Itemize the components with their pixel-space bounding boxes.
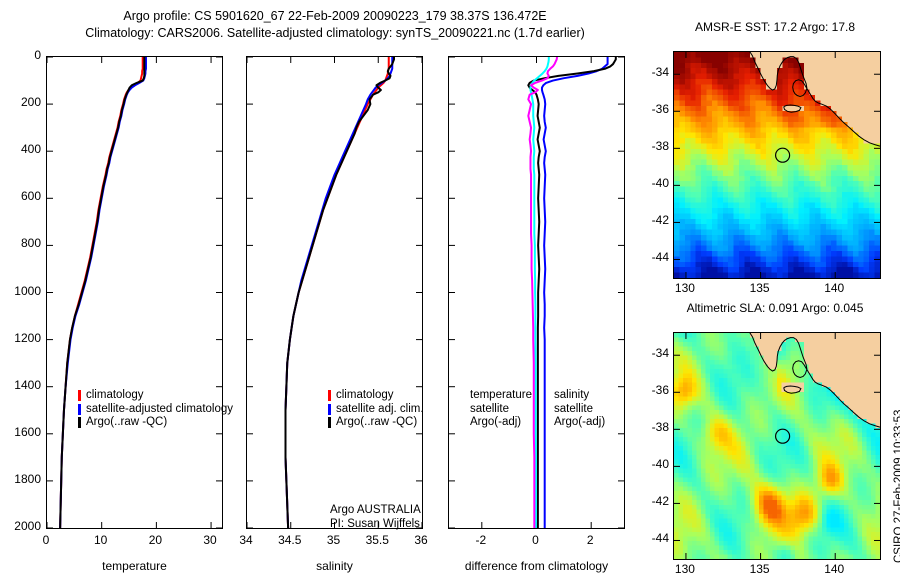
temperature-panel [46,56,223,529]
legend-swatch [78,417,81,428]
difference-panel [448,56,625,529]
depth-tick-label: 600 [0,189,41,203]
sst-map-lat-tick: -38 [631,139,669,153]
sla-map-lat-tick: -40 [631,457,669,471]
legend-item: climatology [328,389,424,403]
depth-tick-label: 1600 [0,425,41,439]
legend-label: climatology [336,389,394,403]
legend-group-header: temperature [470,389,532,403]
csiro-credit: CSIRO 27-Feb-2009 10:33:53 [893,410,900,563]
legend-label: Argo(..raw -QC) [86,416,167,430]
sst-map-lat-tick: -34 [631,65,669,79]
salinity-legend: climatologysatellite adj. clim.Argo(..ra… [328,389,424,430]
legend-swatch [328,417,331,428]
sla-map-lat-tick: -36 [631,383,669,397]
program-annotation: Argo AUSTRALIA [330,503,421,517]
sla-map-lon-tick: 140 [804,562,864,576]
sla-map-lat-tick: -42 [631,494,669,508]
sst-map-lon-tick: 130 [655,281,715,295]
salinity-plot-area [247,57,422,528]
depth-tick-label: 400 [0,142,41,156]
legend-swatch [328,390,331,401]
difference-x-axis-label: difference from climatology [440,559,633,573]
depth-tick-label: 800 [0,236,41,250]
sla-map-lon-tick: 130 [655,562,715,576]
sla-map-lon-tick: 135 [730,562,790,576]
legend-swatch [328,404,331,415]
figure-title-line-1: Argo profile: CS 5901620_67 22-Feb-2009 … [10,9,660,23]
figure-title-line-2: Climatology: CARS2006. Satellite-adjuste… [10,26,660,40]
sst-map-canvas [674,52,880,278]
legend-item: satellite [470,403,532,417]
difference-from-climatology-profile-xtick: -2 [451,533,511,547]
difference-from-climatology-profile-xtick: 0 [506,533,566,547]
sla-map-lat-tick: -38 [631,420,669,434]
depth-tick-label: 1800 [0,472,41,486]
legend-swatch [78,390,81,401]
legend-swatch [78,404,81,415]
sla-map-canvas [674,333,880,559]
temperature-profile-xtick: 0 [16,533,76,547]
legend-label: Argo(..raw -QC) [336,416,417,430]
difference-plot-area [449,57,624,528]
legend-label: climatology [86,389,144,403]
difference-legend: temperaturesatelliteArgo(-adj)salinitysa… [470,389,605,430]
depth-tick-label: 0 [0,48,41,62]
depth-tick-label: 1000 [0,284,41,298]
difference-from-climatology-profile-xtick: 2 [560,533,620,547]
legend-item: satellite [554,403,605,417]
legend-item: Argo(-adj) [470,416,532,430]
sst-map [673,51,881,279]
legend-item: Argo(..raw -QC) [78,416,233,430]
sst-map-title: AMSR-E SST: 17.2 Argo: 17.8 [660,20,890,34]
argo-profile-figure: Argo profile: CS 5901620_67 22-Feb-2009 … [0,0,900,580]
sst-map-lat-tick: -36 [631,102,669,116]
legend-column: salinitysatelliteArgo(-adj) [554,389,605,430]
temperature-legend: climatologysatellite-adjusted climatolog… [78,389,233,430]
sla-map-lat-tick: -44 [631,531,669,545]
temperature-profile-xtick: 10 [71,533,131,547]
legend-item: climatology [78,389,233,403]
sst-map-lat-tick: -40 [631,176,669,190]
legend-item: satellite adj. clim. [328,403,424,417]
salinity-panel [246,56,423,529]
sst-map-lat-tick: -42 [631,213,669,227]
sst-map-lon-tick: 140 [804,281,864,295]
legend-item: satellite-adjusted climatology [78,403,233,417]
depth-tick-label: 200 [0,95,41,109]
depth-tick-label: 1200 [0,331,41,345]
pi-annotation: PI: Susan Wijffels [330,517,420,531]
legend-label: Argo(-adj) [554,416,605,428]
legend-label: satellite-adjusted climatology [86,403,233,417]
temperature-x-axis-label: temperature [46,559,223,573]
salinity-profile-xtick: 36 [391,533,451,547]
temperature-profile-xtick: 20 [125,533,185,547]
legend-group-header: salinity [554,389,605,403]
legend-item: Argo(-adj) [554,416,605,430]
legend-label: Argo(-adj) [470,416,521,428]
program-label: Argo AUSTRALIA [330,504,421,516]
temperature-plot-area [47,57,222,528]
legend-label: satellite [554,403,593,415]
sst-map-lon-tick: 135 [730,281,790,295]
sla-map [673,332,881,560]
salinity-x-axis-label: salinity [246,559,423,573]
sst-map-lat-tick: -44 [631,250,669,264]
legend-column: temperaturesatelliteArgo(-adj) [470,389,532,430]
legend-item: Argo(..raw -QC) [328,416,424,430]
depth-tick-label: 2000 [0,519,41,533]
sla-map-lat-tick: -34 [631,346,669,360]
legend-label: satellite [470,403,509,415]
pi-label: PI: Susan Wijffels [330,518,420,530]
depth-tick-label: 1400 [0,378,41,392]
sla-map-title: Altimetric SLA: 0.091 Argo: 0.045 [660,301,890,315]
legend-label: satellite adj. clim. [336,403,424,417]
